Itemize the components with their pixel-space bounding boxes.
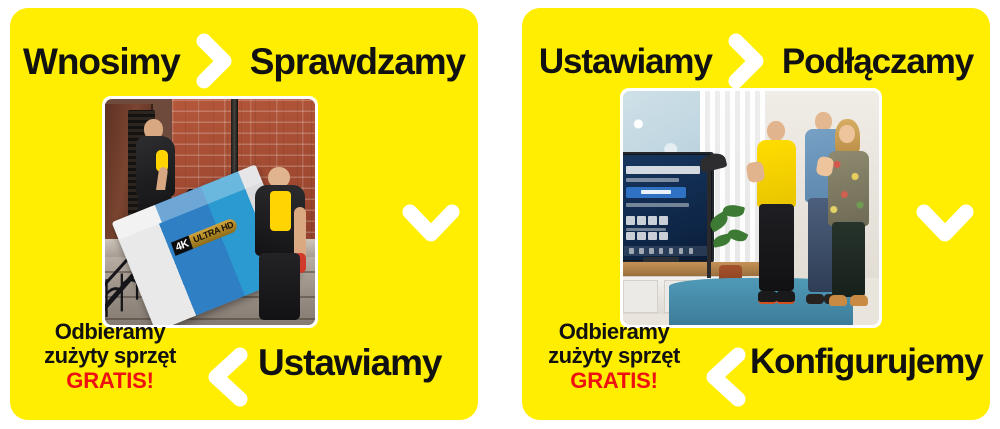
service-steps-infographic: Wnosimy Sprawdzamy [0, 0, 1000, 429]
photo-carrying-tv-upstairs: 4K ULTRA HD [105, 99, 315, 325]
tv-setup-line [626, 228, 666, 231]
customer-woman-trousers [832, 222, 865, 297]
photo-technician-configuring-tv [623, 91, 879, 325]
customer-woman-shoe [850, 295, 868, 306]
photo-frame-install [620, 88, 882, 328]
technician-arm [746, 160, 766, 182]
panel-install: Ustawiamy Podłączamy [522, 8, 990, 420]
worker-yellow-shirt [270, 191, 291, 231]
worker-arm [294, 207, 306, 259]
technician [756, 121, 797, 304]
step-label-konfigurujemy: Konfigurujemy [750, 342, 983, 382]
tv-bottom-bar [624, 246, 707, 257]
recycle-note-install: Odbieramy zużyty sprzęt GRATIS! [530, 320, 698, 392]
technician-shoe [758, 291, 778, 304]
recycle-gratis-badge: GRATIS! [24, 369, 196, 393]
chevron-left-icon [196, 346, 256, 408]
technician-shoe [776, 291, 796, 304]
customer-woman-shoe [829, 295, 847, 306]
chevron-down-icon [400, 196, 462, 252]
bottom-row-install: Odbieramy zużyty sprzęt GRATIS! Konfigur… [522, 320, 990, 406]
chevron-down-icon [914, 196, 976, 252]
badge-ultrahd-text: ULTRA HD [189, 218, 239, 249]
step-label-ustawiamy-top: Ustawiamy [539, 44, 712, 79]
tv-screen [623, 155, 711, 261]
recycle-line-2: zużyty sprzęt [530, 344, 698, 368]
customer-woman-floral-blouse [828, 151, 869, 226]
tv-setup-heading [626, 166, 700, 173]
tv-setup-option-row [626, 216, 667, 224]
panel-delivery: Wnosimy Sprawdzamy [10, 8, 478, 420]
tv-setup-option-row [626, 232, 667, 240]
customer-woman [828, 119, 869, 306]
tv-setup-line [626, 203, 689, 207]
step-label-wnosimy: Wnosimy [23, 43, 180, 80]
customer-woman-face [839, 125, 855, 144]
tv-setup-subtext [626, 178, 678, 182]
recycle-gratis-badge: GRATIS! [530, 369, 698, 393]
chevron-left-icon [694, 346, 754, 408]
headline-row-install: Ustawiamy Podłączamy [522, 30, 990, 92]
step-label-ustawiamy: Ustawiamy [258, 342, 441, 384]
headline-row-delivery: Wnosimy Sprawdzamy [10, 30, 478, 92]
recycle-note-delivery: Odbieramy zużyty sprzęt GRATIS! [24, 320, 196, 392]
recycle-line-1: Odbieramy [530, 320, 698, 344]
step-label-podlaczamy: Podłączamy [782, 44, 973, 79]
recycle-line-2: zużyty sprzęt [24, 344, 196, 368]
tv-setup-card-label [641, 190, 672, 194]
technician-trousers [759, 204, 793, 292]
chevron-right-icon [192, 33, 238, 89]
step-label-sprawdzamy: Sprawdzamy [250, 43, 465, 80]
chevron-right-icon [724, 33, 770, 89]
worker-lower [254, 167, 307, 321]
photo-frame-delivery: 4K ULTRA HD [102, 96, 318, 328]
customer-man-shoe [806, 294, 824, 304]
recycle-line-1: Odbieramy [24, 320, 196, 344]
technician-head [767, 121, 785, 141]
worker-trousers [259, 253, 300, 321]
carton-badge: 4K ULTRA HD [171, 218, 239, 257]
